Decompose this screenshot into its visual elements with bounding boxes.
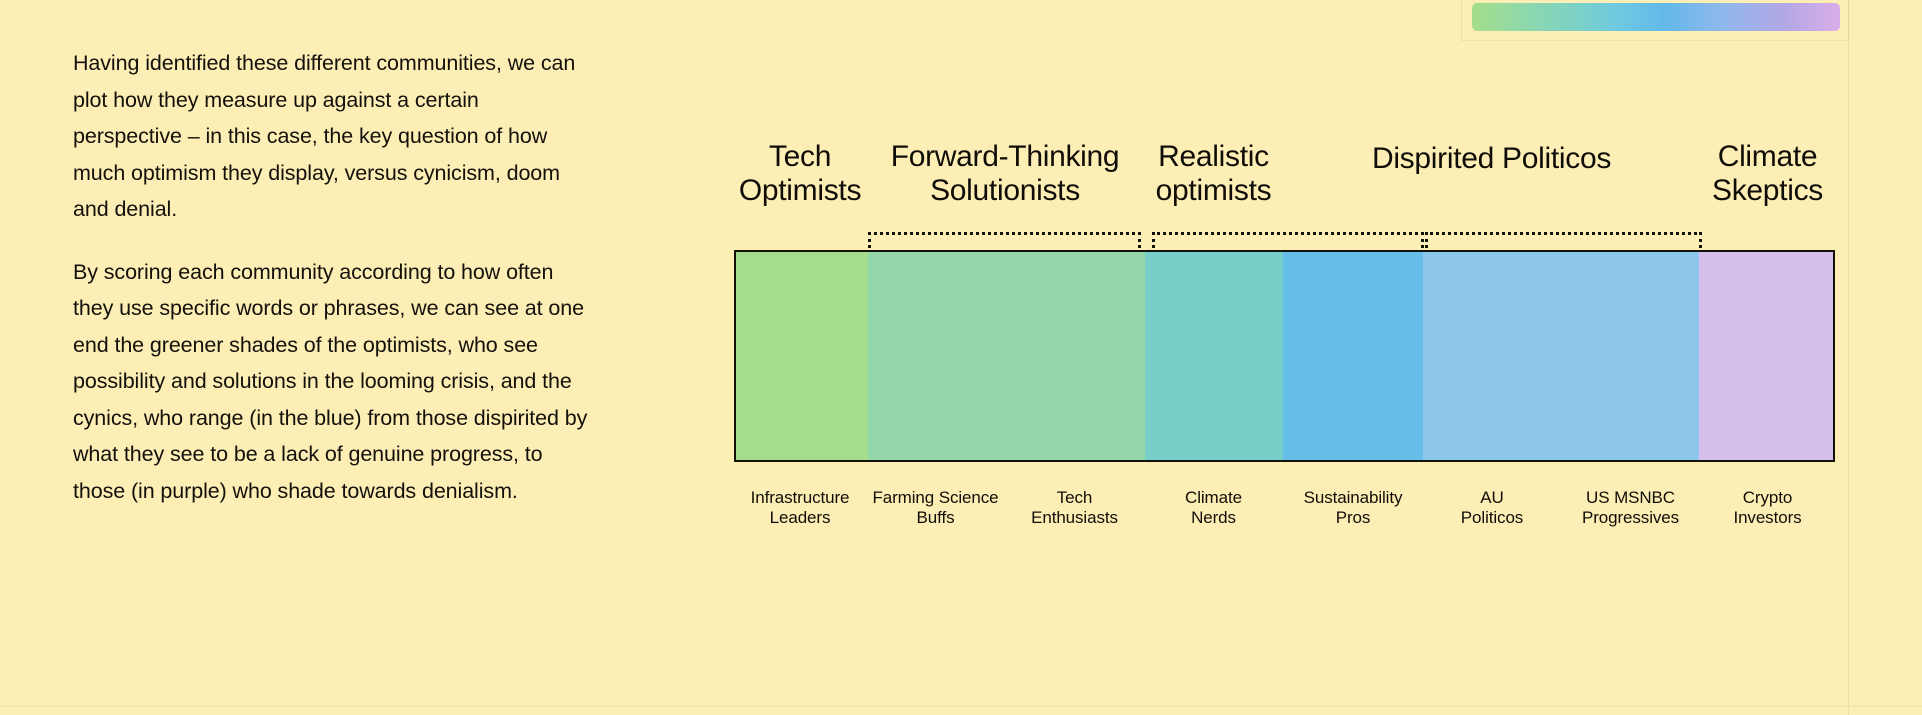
segment-label-line2: Nerds xyxy=(1144,508,1283,528)
group-bracket-dispirited-politicos xyxy=(1425,232,1702,248)
segment-label-line2: Politicos xyxy=(1423,508,1561,528)
spectrum-bar xyxy=(734,250,1835,462)
segment-label: InfrastructureLeaders xyxy=(734,488,866,528)
segment-label-line1: Crypto xyxy=(1700,488,1835,508)
bar-segment xyxy=(1006,252,1145,460)
group-label: ClimateSkeptics xyxy=(1660,140,1875,208)
segment-label-line1: Tech xyxy=(1005,488,1144,508)
segment-label: ClimateNerds xyxy=(1144,488,1283,528)
bar-segment xyxy=(1283,252,1422,460)
segment-label-line2: Progressives xyxy=(1561,508,1700,528)
segment-label-line2: Leaders xyxy=(734,508,866,528)
group-label-line2: Skeptics xyxy=(1660,174,1875,208)
segment-label: US MSNBCProgressives xyxy=(1561,488,1700,528)
community-spectrum-chart: TechOptimistsForward-ThinkingSolutionist… xyxy=(0,0,1922,715)
segment-label-line2: Buffs xyxy=(866,508,1005,528)
segment-label-line2: Enthusiasts xyxy=(1005,508,1144,528)
segment-label-line1: AU xyxy=(1423,488,1561,508)
segment-label-line1: Farming Science xyxy=(866,488,1005,508)
segment-label-line1: Climate xyxy=(1144,488,1283,508)
slide-canvas: Having identified these different commun… xyxy=(0,0,1922,715)
segment-label: AUPoliticos xyxy=(1423,488,1561,528)
bar-segment xyxy=(1560,252,1699,460)
bar-segment xyxy=(1699,252,1834,460)
segment-label: CryptoInvestors xyxy=(1700,488,1835,528)
segment-label-line2: Pros xyxy=(1283,508,1423,528)
group-bracket-forward-thinking-solutionists xyxy=(868,232,1141,248)
bar-segment xyxy=(868,252,1007,460)
group-label-line1: Climate xyxy=(1660,140,1875,174)
segment-label-line1: Sustainability xyxy=(1283,488,1423,508)
group-label-line2: optimists xyxy=(1104,174,1323,208)
bar-segment xyxy=(1423,252,1561,460)
bar-segment xyxy=(1145,252,1284,460)
segment-label: SustainabilityPros xyxy=(1283,488,1423,528)
segment-label: TechEnthusiasts xyxy=(1005,488,1144,528)
segment-label-line1: US MSNBC xyxy=(1561,488,1700,508)
segment-label-line1: Infrastructure xyxy=(734,488,866,508)
segment-label-line2: Investors xyxy=(1700,508,1835,528)
bar-segment xyxy=(736,252,868,460)
group-bracket-realistic-optimists-and-left xyxy=(1152,232,1424,248)
segment-label: Farming ScienceBuffs xyxy=(866,488,1005,528)
